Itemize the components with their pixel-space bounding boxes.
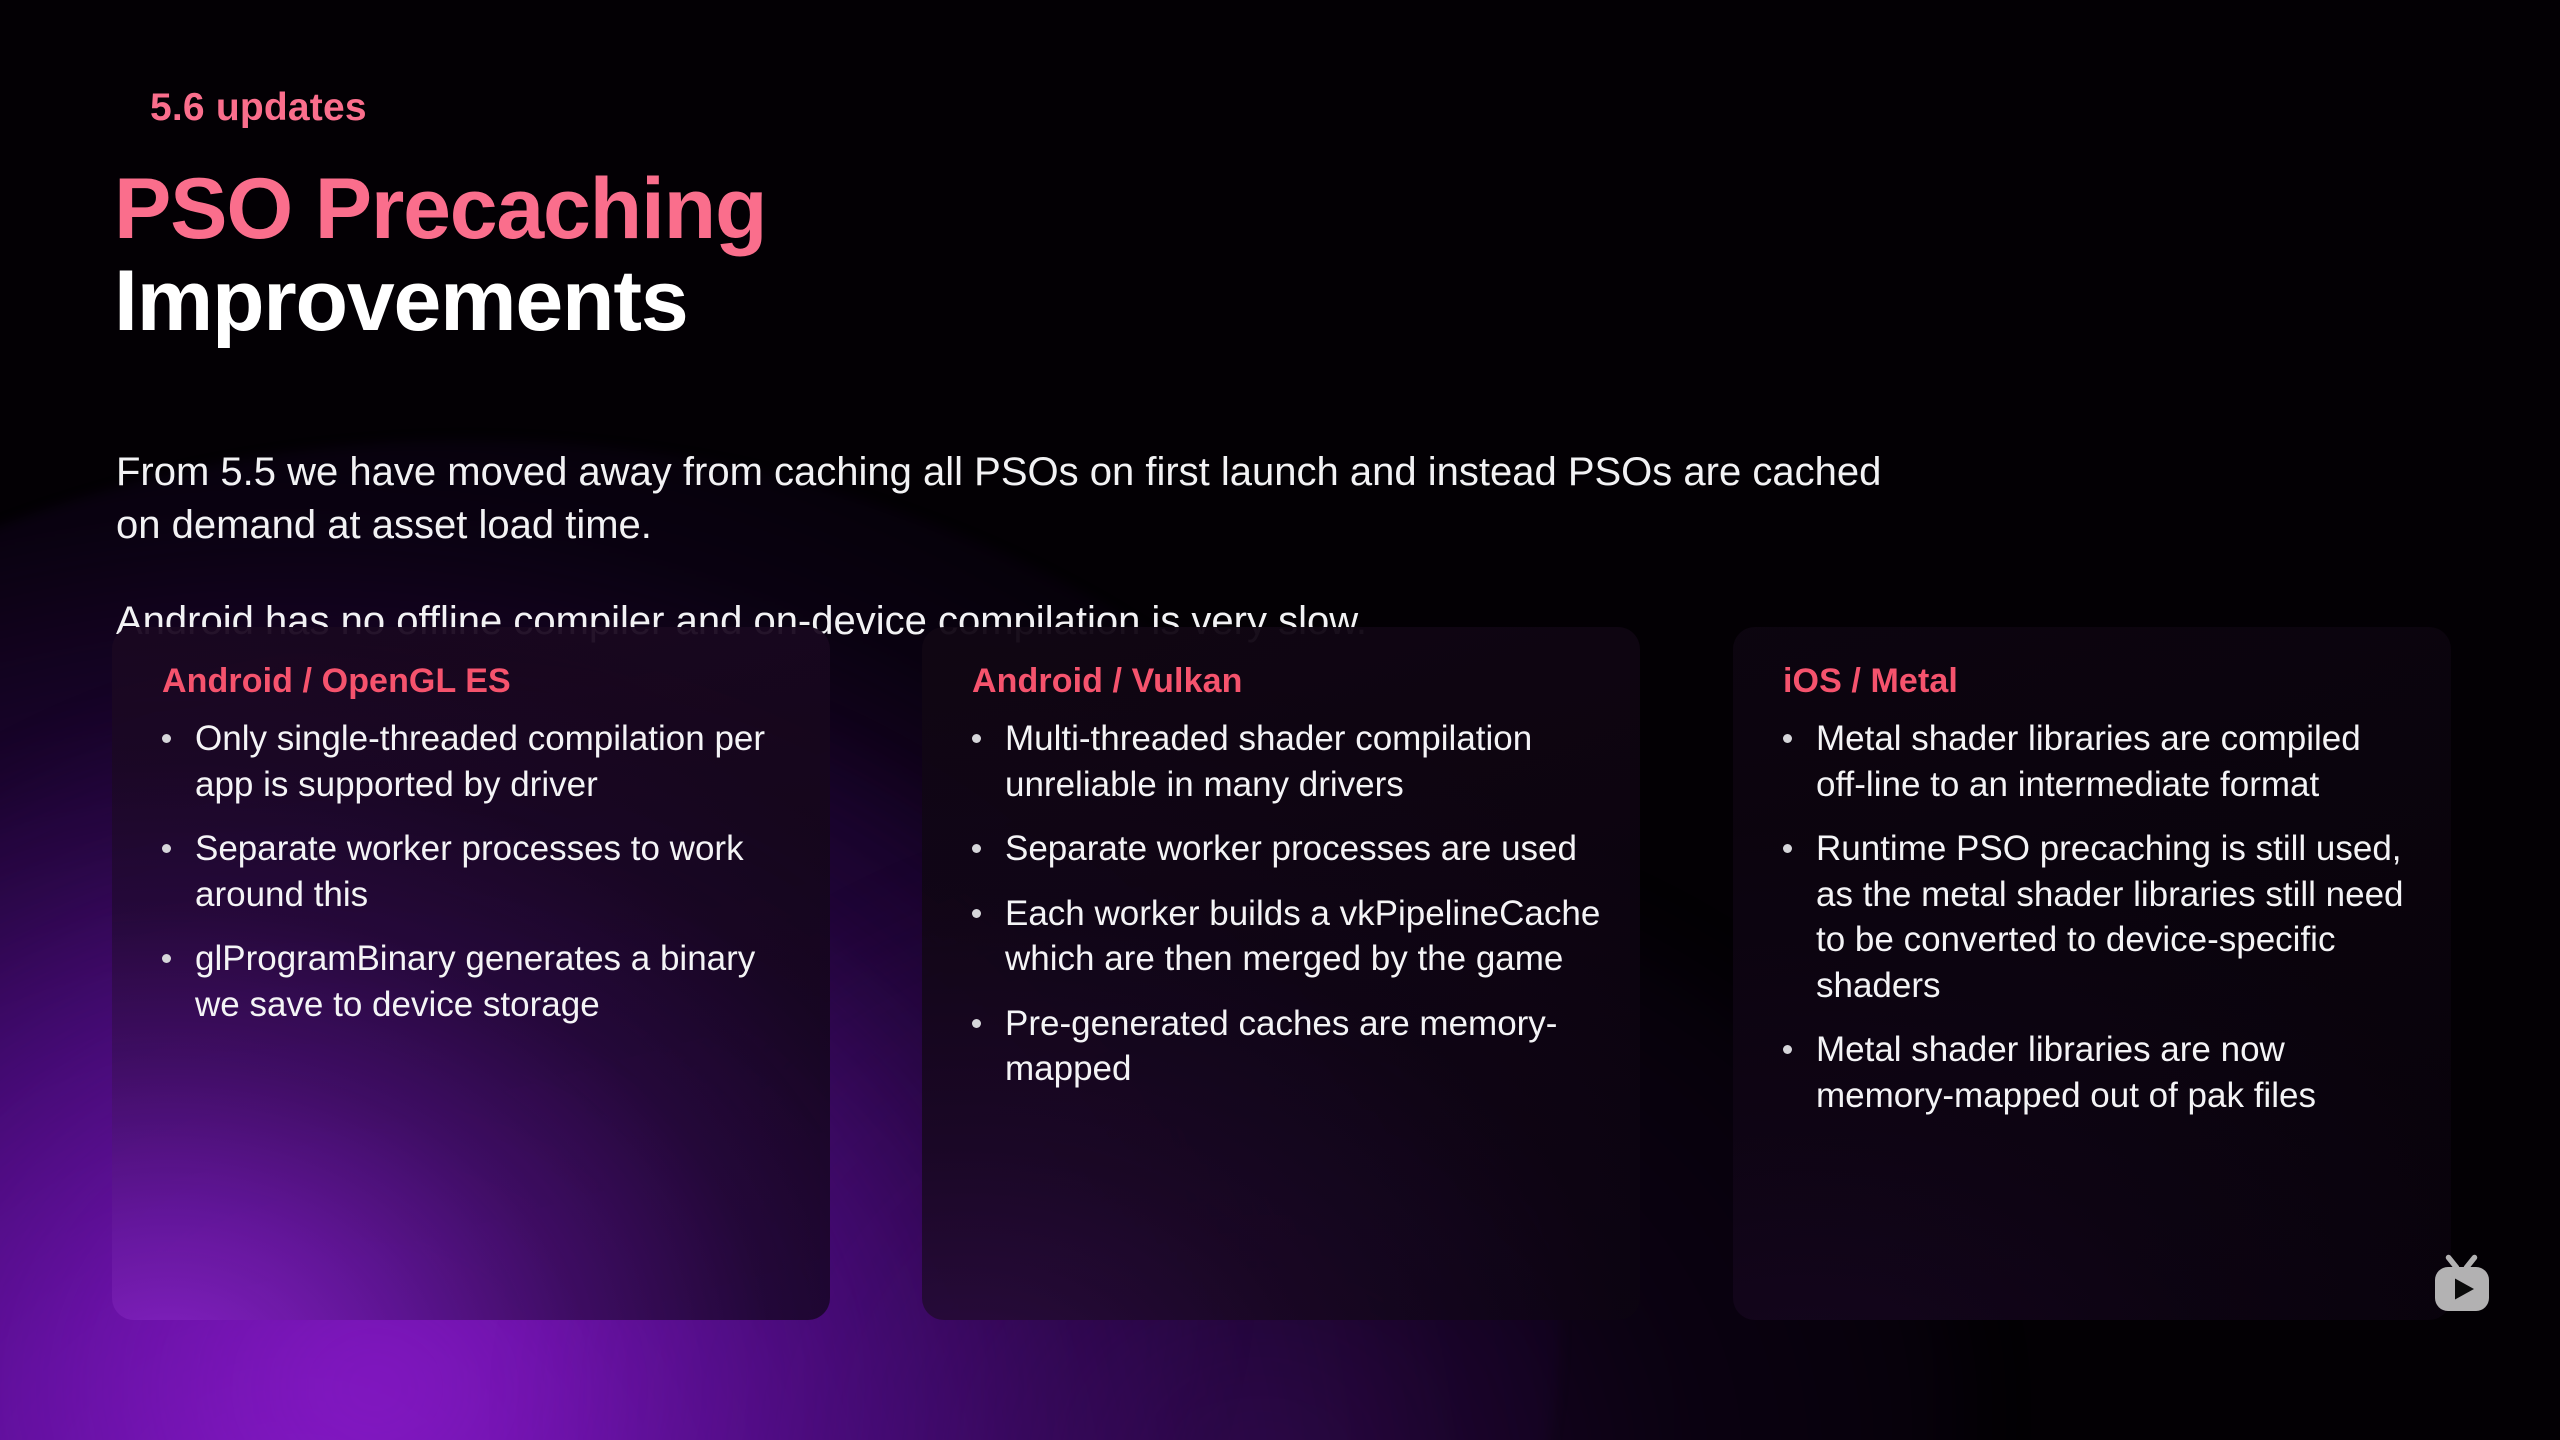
list-item-text: glProgramBinary generates a binary we sa… [195,939,755,1024]
card-title-ios-metal: iOS / Metal [1783,663,2417,700]
slide-eyebrow: 5.6 updates [150,88,367,127]
bullet-dot-icon [1783,844,1792,853]
page-title-line-2: Improvements [114,260,766,343]
bullet-dot-icon [972,1019,981,1028]
bullet-dot-icon [162,954,171,963]
card-title-android-vulkan: Android / Vulkan [972,663,1606,700]
list-item-text: Pre-generated caches are memory-mapped [1005,1004,1557,1089]
card-ios-metal: iOS / Metal Metal shader libraries are c… [1733,627,2451,1320]
list-item: Separate worker processes to work around… [146,826,796,917]
platform-cards-row: Android / OpenGL ES Only single-threaded… [0,627,2560,1327]
card-android-opengl-es: Android / OpenGL ES Only single-threaded… [112,627,830,1320]
list-item: Pre-generated caches are memory-mapped [956,1001,1606,1092]
bullet-dot-icon [972,844,981,853]
list-item-text: Separate worker processes to work around… [195,829,744,914]
list-item-text: Only single-threaded compilation per app… [195,719,765,804]
tv-play-icon [2429,1254,2495,1318]
slide-content: 5.6 updates PSO Precaching Improvements … [0,0,2560,1440]
list-item: Metal shader libraries are now memory-ma… [1767,1027,2417,1118]
list-item-text: Metal shader libraries are now memory-ma… [1816,1030,2316,1115]
bullet-list-android-opengl-es: Only single-threaded compilation per app… [146,716,796,1027]
list-item: Each worker builds a vkPipelineCache whi… [956,891,1606,982]
page-title-line-1: PSO Precaching [114,168,766,251]
list-item: Runtime PSO precaching is still used, as… [1767,826,2417,1008]
bullet-dot-icon [972,909,981,918]
list-item: Metal shader libraries are compiled off-… [1767,716,2417,807]
list-item-text: Each worker builds a vkPipelineCache whi… [1005,894,1600,979]
presentation-slide: 5.6 updates PSO Precaching Improvements … [0,0,2560,1440]
bullet-dot-icon [162,734,171,743]
list-item: Separate worker processes are used [956,826,1606,872]
list-item-text: Separate worker processes are used [1005,829,1577,868]
page-title: PSO Precaching Improvements [114,168,766,344]
bullet-dot-icon [1783,1045,1792,1054]
list-item-text: Runtime PSO precaching is still used, as… [1816,829,2404,1005]
bullet-dot-icon [1783,734,1792,743]
bullet-dot-icon [162,844,171,853]
bullet-list-android-vulkan: Multi-threaded shader compilation unreli… [956,716,1606,1092]
intro-paragraph-1: From 5.5 we have moved away from caching… [116,446,1926,552]
list-item: Only single-threaded compilation per app… [146,716,796,807]
list-item: Multi-threaded shader compilation unreli… [956,716,1606,807]
list-item-text: Metal shader libraries are compiled off-… [1816,719,2361,804]
bullet-dot-icon [972,734,981,743]
bullet-list-ios-metal: Metal shader libraries are compiled off-… [1767,716,2417,1118]
card-android-vulkan: Android / Vulkan Multi-threaded shader c… [922,627,1640,1320]
list-item-text: Multi-threaded shader compilation unreli… [1005,719,1532,804]
card-title-android-opengl-es: Android / OpenGL ES [162,663,796,700]
list-item: glProgramBinary generates a binary we sa… [146,936,796,1027]
